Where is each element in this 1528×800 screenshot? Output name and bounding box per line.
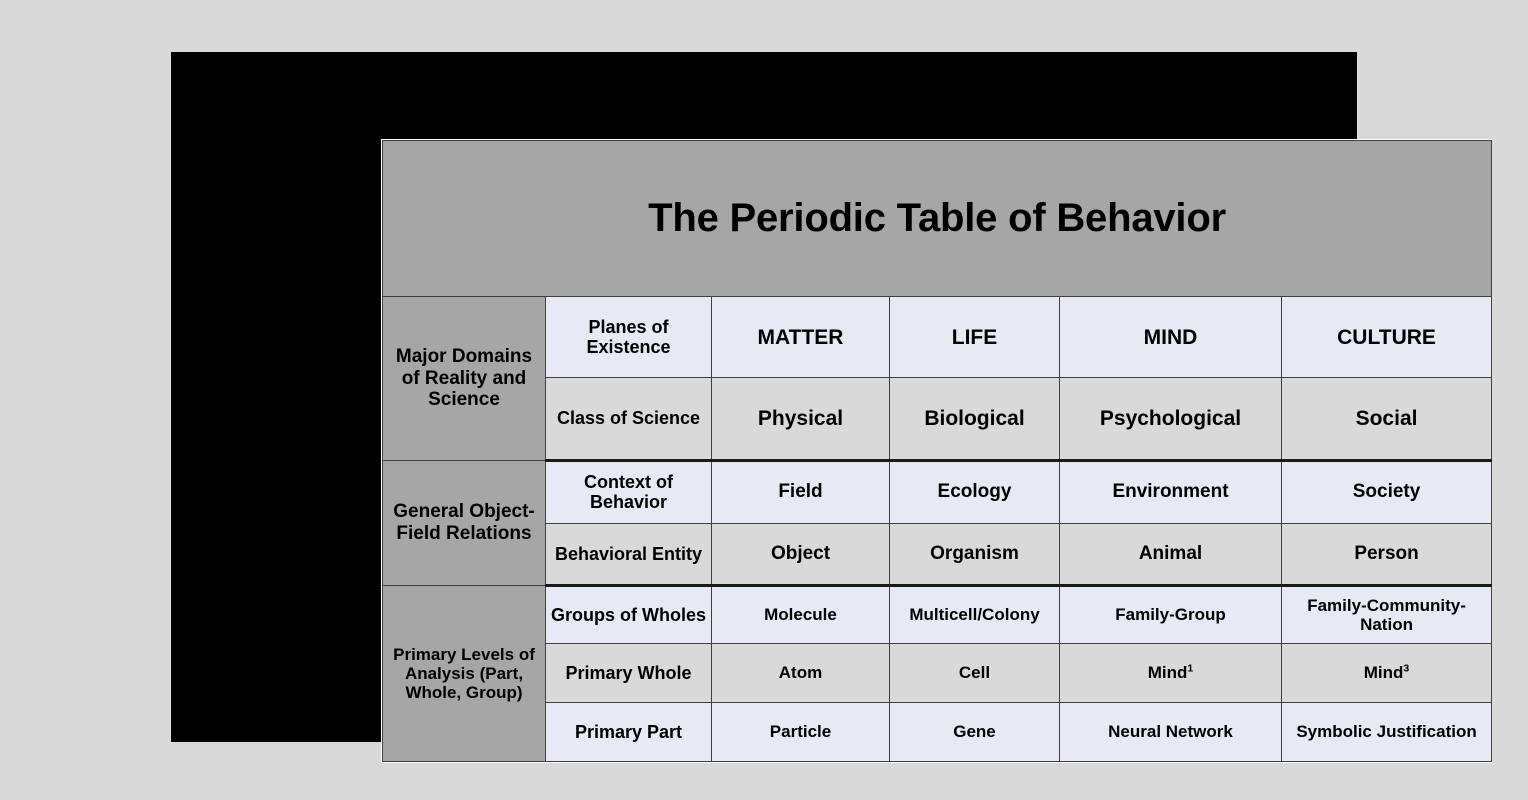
row-label-primary-part: Primary Part bbox=[546, 702, 712, 761]
cell-mind-primary-whole: Mind1 bbox=[1060, 643, 1282, 702]
cell-culture-primary-whole: Mind3 bbox=[1282, 643, 1492, 702]
cell-matter-planes: MATTER bbox=[712, 297, 890, 378]
group-label-object-field-relations: General Object-Field Relations bbox=[383, 460, 546, 585]
group-label-primary-levels-of-analysis: Primary Levels of Analysis (Part, Whole,… bbox=[383, 585, 546, 761]
cell-mind-groups-of-wholes: Family-Group bbox=[1060, 585, 1282, 643]
cell-life-groups-of-wholes: Multicell/Colony bbox=[890, 585, 1060, 643]
cell-matter-entity: Object bbox=[712, 523, 890, 585]
cell-mind-primary-part: Neural Network bbox=[1060, 702, 1282, 761]
cell-life-class-of-science: Biological bbox=[890, 378, 1060, 460]
row-label-behavioral-entity: Behavioral Entity bbox=[546, 523, 712, 585]
slide-canvas: The Periodic Table of Behavior Major Dom… bbox=[0, 0, 1528, 800]
table-row: Primary Levels of Analysis (Part, Whole,… bbox=[383, 585, 1492, 643]
cell-matter-primary-whole: Atom bbox=[712, 643, 890, 702]
cell-culture-groups-of-wholes: Family-Community-Nation bbox=[1282, 585, 1492, 643]
group-label-major-domains: Major Domains of Reality and Science bbox=[383, 297, 546, 460]
cell-life-primary-part: Gene bbox=[890, 702, 1060, 761]
row-label-primary-whole: Primary Whole bbox=[546, 643, 712, 702]
cell-life-entity: Organism bbox=[890, 523, 1060, 585]
cell-mind-entity: Animal bbox=[1060, 523, 1282, 585]
table-row: Behavioral Entity Object Organism Animal… bbox=[383, 523, 1492, 585]
table-body: The Periodic Table of Behavior Major Dom… bbox=[383, 141, 1492, 762]
row-label-planes-of-existence: Planes of Existence bbox=[546, 297, 712, 378]
table-row: Major Domains of Reality and Science Pla… bbox=[383, 297, 1492, 378]
cell-mind-class-of-science: Psychological bbox=[1060, 378, 1282, 460]
footnote-marker: 1 bbox=[1187, 663, 1193, 675]
row-label-context-of-behavior: Context of Behavior bbox=[546, 460, 712, 523]
cell-mind-context: Environment bbox=[1060, 460, 1282, 523]
page-title: The Periodic Table of Behavior bbox=[383, 141, 1492, 297]
cell-culture-primary-part: Symbolic Justification bbox=[1282, 702, 1492, 761]
cell-life-planes: LIFE bbox=[890, 297, 1060, 378]
cell-culture-class-of-science: Social bbox=[1282, 378, 1492, 460]
cell-culture-context: Society bbox=[1282, 460, 1492, 523]
cell-matter-context: Field bbox=[712, 460, 890, 523]
cell-life-context: Ecology bbox=[890, 460, 1060, 523]
periodic-table-container: The Periodic Table of Behavior Major Dom… bbox=[381, 139, 1492, 763]
cell-matter-class-of-science: Physical bbox=[712, 378, 890, 460]
table-row: General Object-Field Relations Context o… bbox=[383, 460, 1492, 523]
table-row: Primary Whole Atom Cell Mind1 Mind3 bbox=[383, 643, 1492, 702]
cell-matter-groups-of-wholes: Molecule bbox=[712, 585, 890, 643]
cell-culture-entity: Person bbox=[1282, 523, 1492, 585]
periodic-table-of-behavior: The Periodic Table of Behavior Major Dom… bbox=[382, 140, 1492, 762]
cell-life-primary-whole: Cell bbox=[890, 643, 1060, 702]
row-label-class-of-science: Class of Science bbox=[546, 378, 712, 460]
cell-matter-primary-part: Particle bbox=[712, 702, 890, 761]
footnote-marker: 3 bbox=[1403, 663, 1409, 675]
table-row: Primary Part Particle Gene Neural Networ… bbox=[383, 702, 1492, 761]
black-picture-frame: The Periodic Table of Behavior Major Dom… bbox=[171, 52, 1357, 742]
cell-mind-planes: MIND bbox=[1060, 297, 1282, 378]
cell-culture-planes: CULTURE bbox=[1282, 297, 1492, 378]
title-row: The Periodic Table of Behavior bbox=[383, 141, 1492, 297]
row-label-groups-of-wholes: Groups of Wholes bbox=[546, 585, 712, 643]
table-row: Class of Science Physical Biological Psy… bbox=[383, 378, 1492, 460]
